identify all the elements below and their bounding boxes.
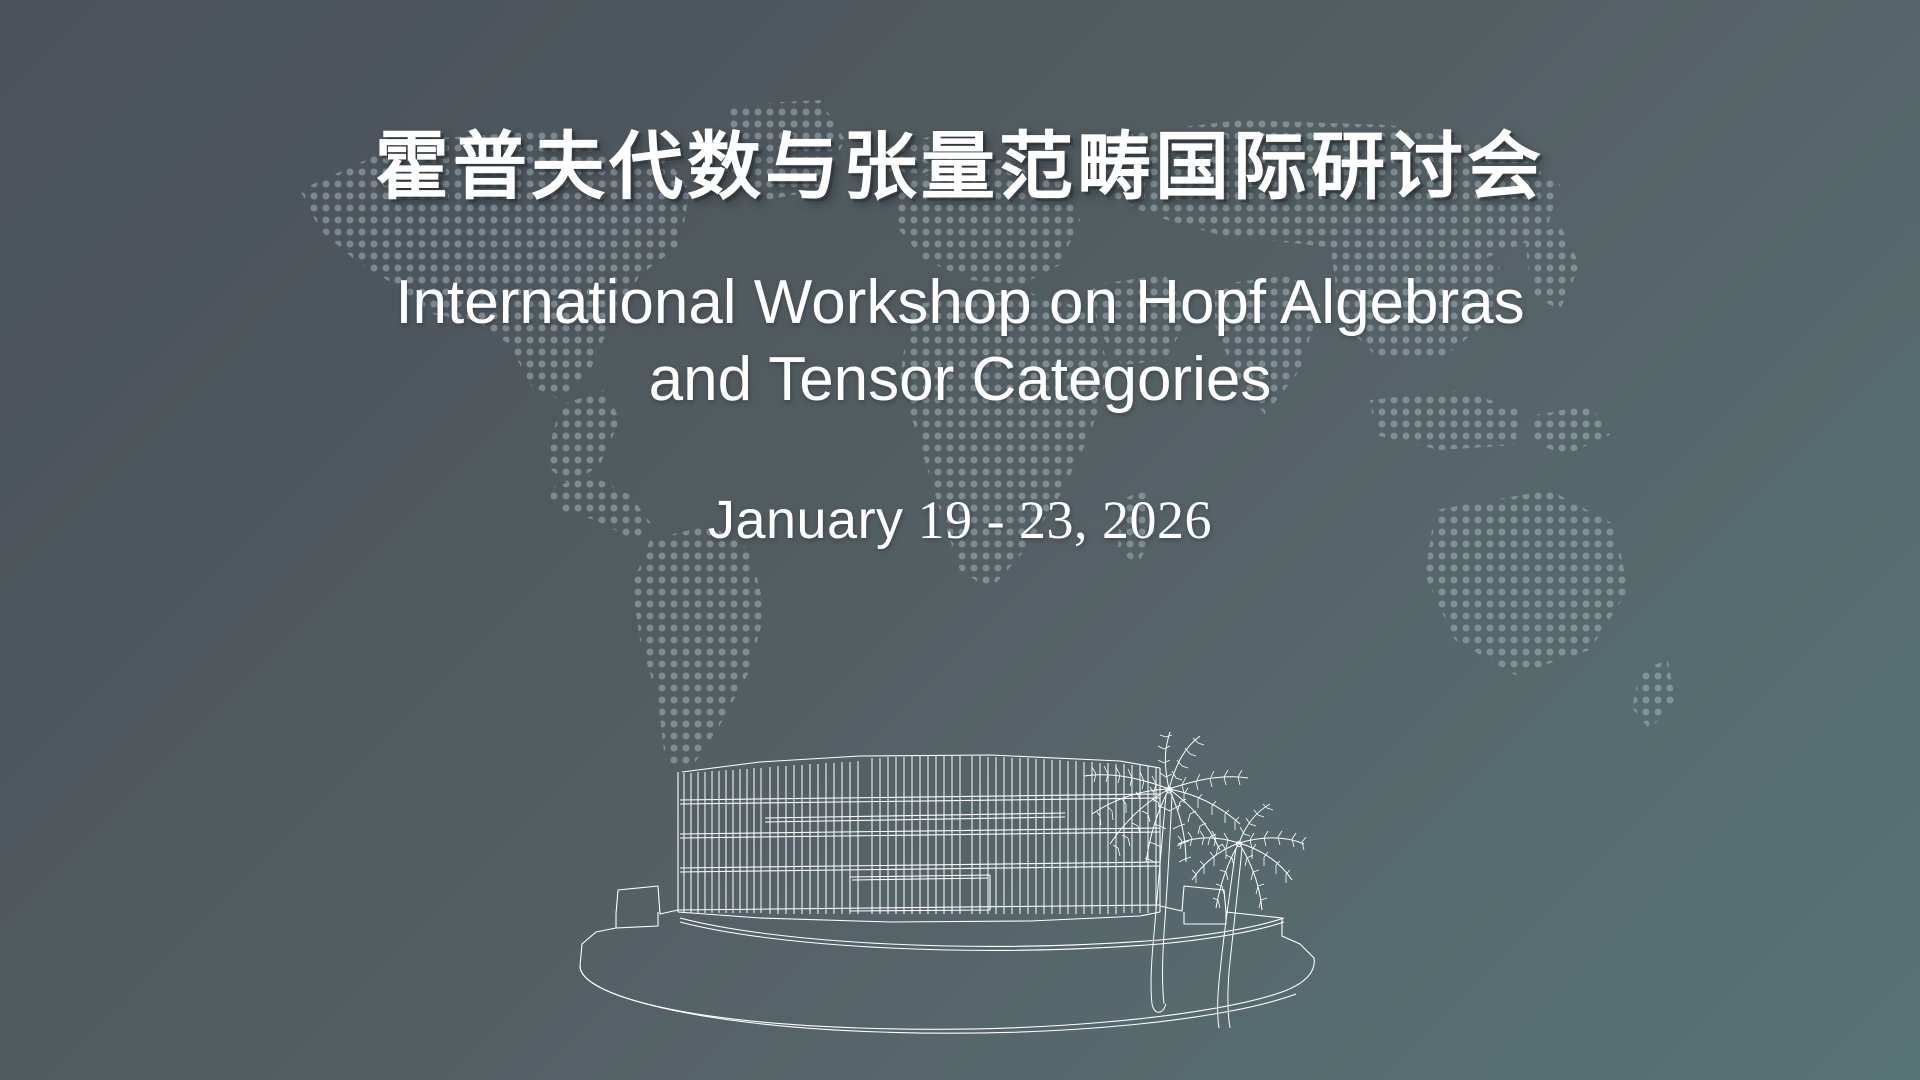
poster-content: 霍普夫代数与张量范畴国际研讨会 International Workshop o…: [0, 0, 1920, 1080]
page-title-english: International Workshop on Hopf Algebras …: [395, 264, 1524, 419]
event-date-range: 19 - 23, 2026: [904, 490, 1212, 550]
poster-canvas: 霍普夫代数与张量范畴国际研讨会 International Workshop o…: [0, 0, 1920, 1080]
event-dates: January19 - 23, 2026: [708, 489, 1212, 551]
title-english-line-2: and Tensor Categories: [395, 341, 1524, 419]
page-title-chinese: 霍普夫代数与张量范畴国际研讨会: [375, 128, 1545, 208]
title-english-line-1: International Workshop on Hopf Algebras: [395, 264, 1524, 342]
event-month: January: [708, 490, 904, 550]
